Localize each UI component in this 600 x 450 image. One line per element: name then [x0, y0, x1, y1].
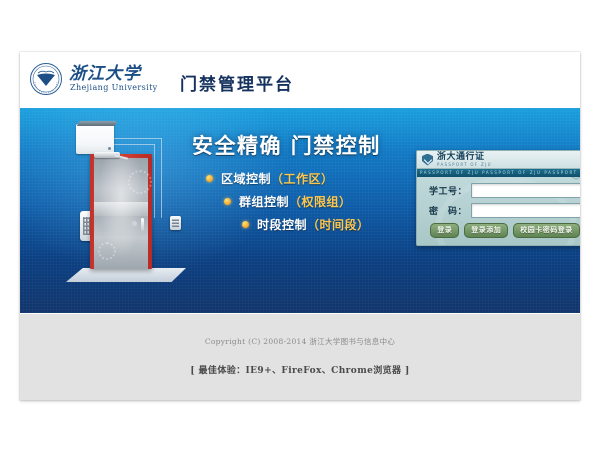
access-controller-box-icon [76, 124, 114, 154]
controller-led-icon [108, 147, 111, 150]
bullet-dot-icon [242, 221, 249, 228]
login-add-button[interactable]: 登录添加 [464, 223, 508, 238]
wire [161, 138, 162, 218]
site-header: 浙江大学 Zhejiang University 门禁管理平台 [20, 52, 580, 108]
floor-plate [66, 268, 186, 282]
banner-headline: 安全精确 门禁控制 [192, 130, 381, 160]
passport-strip: PASSPORT OF ZJU PASSPORT OF ZJU PASSPORT… [417, 169, 580, 177]
zju-seal-icon [29, 62, 63, 96]
best-experience-text: [ 最佳体验：IE9+、FireFox、Chrome浏览器 ] [190, 363, 409, 376]
login-button-row: 登录 登录添加 校园卡密码登录 [425, 223, 580, 238]
feature-label: 时段控制（时间段） [257, 216, 370, 233]
login-panel-title: 浙大通行证 [437, 153, 492, 162]
login-panel-header: 浙大通行证 PASSPORT OF ZJU [417, 151, 580, 169]
brand-name-en: Zhejiang University [70, 83, 158, 93]
card-reader-icon [170, 216, 181, 230]
login-form: 学工号： 密 码： 登录 登录添加 校园卡密码登录 [417, 177, 580, 238]
gear-icon [128, 170, 152, 194]
feature-list: 区域控制（工作区） 群组控制（权限组） 时段控制（时间段） [206, 170, 370, 239]
hero-banner: 安全精确 门禁控制 区域控制（工作区） 群组控制（权限组） 时段控制（时间段） [20, 108, 580, 313]
list-item: 区域控制（工作区） [206, 170, 370, 187]
username-input[interactable] [471, 183, 580, 198]
copyright-text: Copyright (C) 2008-2014 浙江大学图书与信息中心 [205, 336, 395, 347]
door-lock-icon [132, 221, 137, 226]
form-row: 学工号： [425, 183, 580, 198]
username-label: 学工号： [425, 184, 471, 197]
wire [114, 144, 155, 145]
site-page: 浙江大学 Zhejiang University 门禁管理平台 [20, 52, 580, 400]
feature-label: 群组控制（权限组） [239, 193, 352, 210]
door-handle-icon [141, 218, 144, 231]
login-button[interactable]: 登录 [430, 223, 459, 238]
login-panel-subtitle: PASSPORT OF ZJU [437, 162, 492, 167]
brand-name-cn: 浙江大学 [69, 66, 158, 83]
password-input[interactable] [471, 203, 580, 218]
list-item: 时段控制（时间段） [242, 216, 370, 233]
password-label: 密 码： [425, 204, 471, 217]
bullet-dot-icon [206, 175, 213, 182]
campus-card-login-button[interactable]: 校园卡密码登录 [513, 223, 580, 238]
gear-icon [98, 242, 116, 260]
door-panel [94, 158, 148, 269]
bullet-dot-icon [224, 198, 231, 205]
brand-text: 浙江大学 Zhejiang University [63, 66, 158, 93]
login-panel: 浙大通行证 PASSPORT OF ZJU PASSPORT OF ZJU PA… [416, 150, 580, 246]
passport-shield-icon [422, 154, 433, 166]
page-title: 门禁管理平台 [180, 70, 294, 95]
brand-logo[interactable]: 浙江大学 Zhejiang University [29, 62, 158, 96]
door-closer-icon [94, 152, 120, 158]
security-door-icon [90, 154, 152, 269]
wire [154, 144, 155, 218]
form-row: 密 码： [425, 203, 580, 218]
wire [114, 138, 162, 139]
site-footer: Copyright (C) 2008-2014 浙江大学图书与信息中心 [ 最佳… [20, 313, 580, 400]
list-item: 群组控制（权限组） [224, 193, 370, 210]
feature-label: 区域控制（工作区） [221, 170, 334, 187]
